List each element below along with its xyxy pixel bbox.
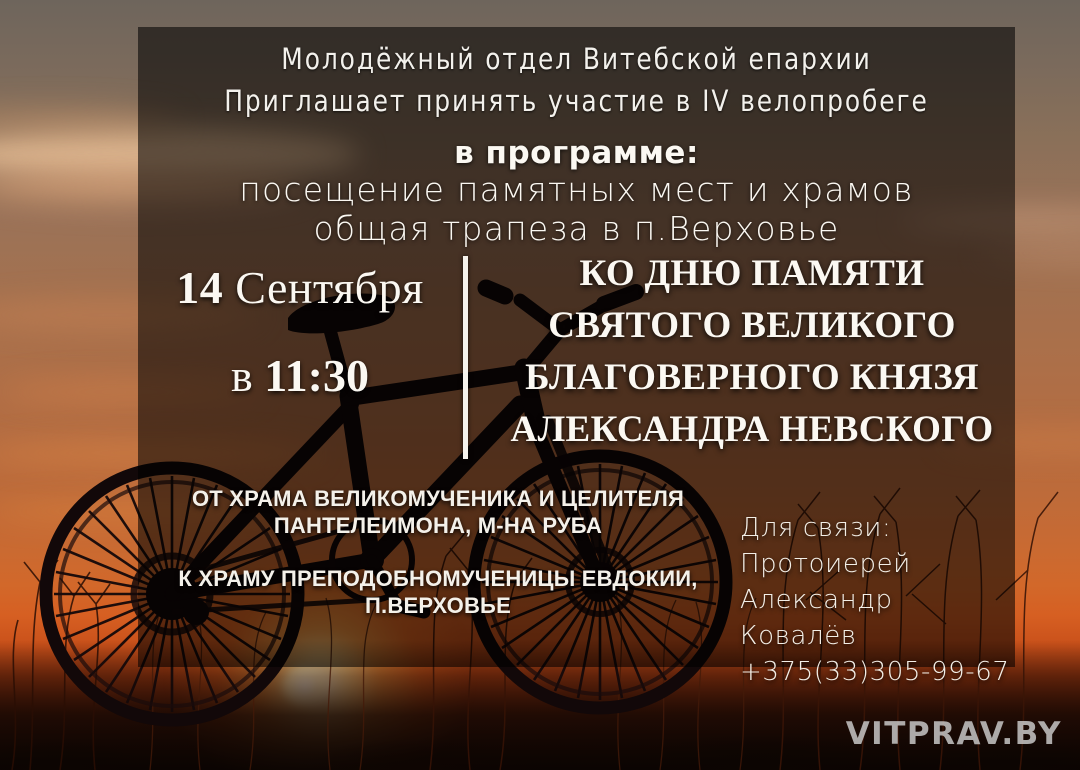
poster-canvas: Молодёжный отдел Витебской епархии Пригл… [0,0,1080,770]
route-block: ОТ ХРАМА ВЕЛИКОМУЧЕНИКА И ЦЕЛИТЕЛЯ ПАНТЕ… [158,485,718,619]
route-end-line-2: П.ВЕРХОВЬЕ [158,592,718,619]
route-end-line-1: К ХРАМУ ПРЕПОДОБНОМУЧЕНИЦЫ ЕВДОКИИ, [158,565,718,592]
event-date-month: Сентября [223,262,424,313]
memorial-line-4: АЛЕКСАНДРА НЕВСКОГО [492,404,1012,456]
program-block: в программе: посещение памятных мест и х… [138,136,1015,248]
contact-phone[interactable]: +375(33)305-99-67 [740,654,1015,690]
datetime-block: 14 Сентября в 11:30 [145,262,455,402]
event-time-prefix: в [231,350,264,401]
header-line-invitation: Приглашает принять участие в IV велопроб… [199,80,953,122]
event-time: в 11:30 [145,350,455,402]
route-spacer [158,539,718,565]
memorial-line-3: БЛАГОВЕРНОГО КНЯЗЯ [492,352,1012,404]
vertical-divider [463,256,468,459]
program-title: в программе: [138,136,1015,170]
memorial-line-1: КО ДНЮ ПАМЯТИ [492,248,1012,300]
header-block: Молодёжный отдел Витебской епархии Пригл… [138,38,1015,122]
route-start-line-1: ОТ ХРАМА ВЕЛИКОМУЧЕНИКА И ЦЕЛИТЕЛЯ [158,485,718,512]
header-line-organization: Молодёжный отдел Витебской епархии [199,38,953,80]
contact-role: Протоиерей [740,546,1015,582]
event-date-number: 14 [176,262,223,313]
site-watermark: VITPRAV.BY [846,716,1062,752]
poster-content: Молодёжный отдел Витебской епархии Пригл… [0,0,1080,770]
event-time-value: 11:30 [264,350,369,401]
route-start-line-2: ПАНТЕЛЕИМОНА, М-НА РУБА [158,512,718,539]
contact-label: Для связи: [740,510,1015,546]
contact-name: Александр Ковалёв [740,582,1015,654]
memorial-line-2: СВЯТОГО ВЕЛИКОГО [492,300,1012,352]
event-date: 14 Сентября [145,262,455,314]
memorial-title-block: КО ДНЮ ПАМЯТИ СВЯТОГО ВЕЛИКОГО БЛАГОВЕРН… [492,248,1012,456]
contact-block: Для связи: Протоиерей Александр Ковалёв … [740,510,1015,690]
program-item-visits: посещение памятных мест и храмов [138,170,1015,209]
program-item-meal: общая трапеза в п.Верховье [138,209,1015,248]
